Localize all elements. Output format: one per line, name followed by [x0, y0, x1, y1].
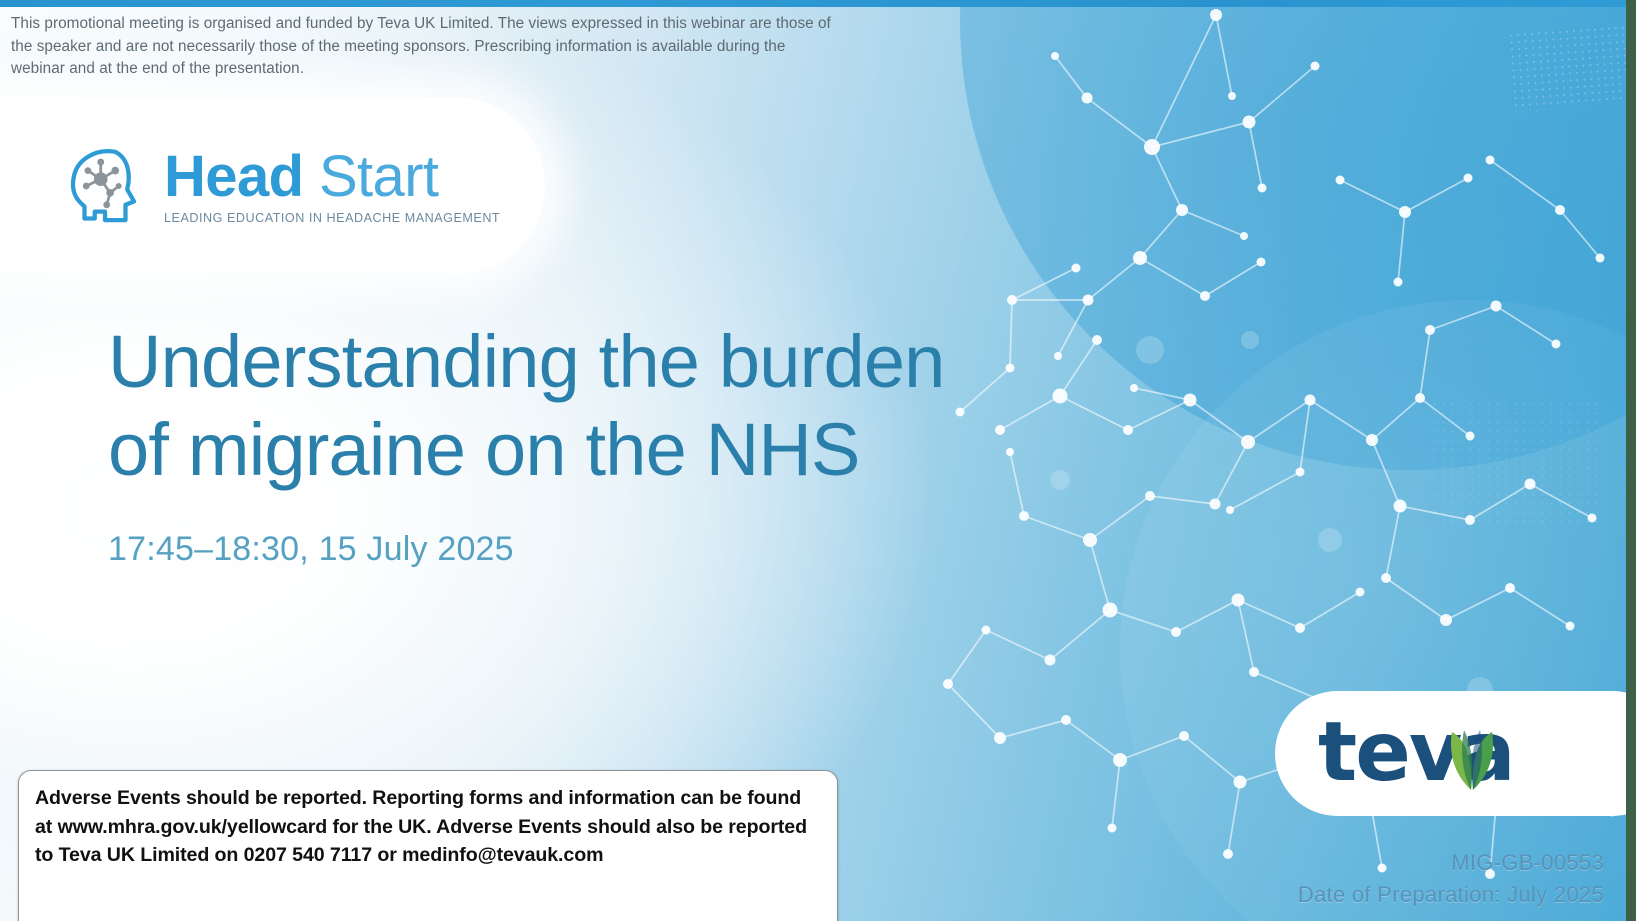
teva-leaf-icon	[1440, 716, 1504, 792]
headstart-word-start: Start	[319, 144, 439, 209]
top-accent-bar	[0, 0, 1626, 7]
adverse-events-notice-box: Adverse Events should be reported. Repor…	[18, 770, 838, 921]
presentation-slide: This promotional meeting is organised an…	[0, 0, 1626, 921]
video-player-frame: This promotional meeting is organised an…	[0, 0, 1636, 921]
webinar-datetime-subtitle: 17:45–18:30, 15 July 2025	[108, 529, 968, 569]
dot-texture-decoration	[1507, 24, 1626, 112]
date-of-preparation: Date of Preparation: July 2025	[1298, 879, 1604, 911]
job-code-block: MIG-GB-00553 Date of Preparation: July 2…	[1298, 847, 1604, 911]
headstart-word-head: Head	[164, 144, 303, 209]
adverse-events-text: Adverse Events should be reported. Repor…	[35, 784, 821, 870]
player-right-edge	[1626, 0, 1636, 921]
headstart-tagline: LEADING EDUCATION IN HEADACHE MANAGEMENT	[164, 211, 500, 225]
promotional-disclaimer-text: This promotional meeting is organised an…	[11, 13, 831, 81]
head-profile-neuron-network-icon	[62, 145, 148, 227]
teva-logo: teva	[1318, 712, 1514, 794]
dot-texture-decoration-secondary	[1430, 400, 1600, 530]
headstart-logo: Head Start LEADING EDUCATION IN HEADACHE…	[62, 138, 500, 234]
title-block: Understanding the burden of migraine on …	[108, 318, 968, 569]
job-code: MIG-GB-00553	[1298, 847, 1604, 879]
page-title: Understanding the burden of migraine on …	[108, 318, 968, 494]
headstart-wordmark: Head Start	[164, 148, 500, 206]
